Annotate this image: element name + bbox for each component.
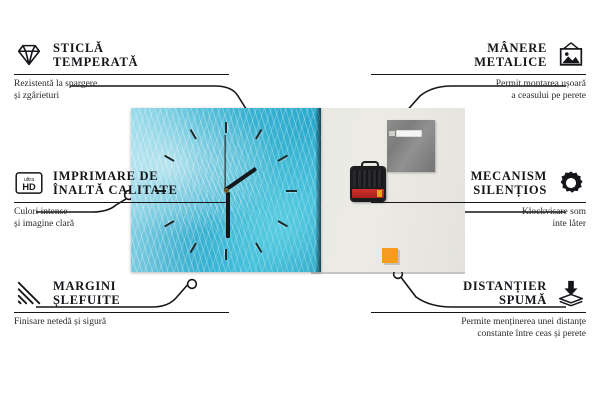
callout-title: STICLĂ TEMPERATĂ bbox=[53, 41, 138, 69]
callout-rule bbox=[371, 312, 586, 313]
callout-rule bbox=[14, 202, 229, 203]
callout-mecanism-silentios: MECANISM SILENȚIOS Klockvisare som inte … bbox=[371, 168, 586, 230]
callout-title: IMPRIMARE DE ÎNALTĂ CALITATE bbox=[53, 169, 178, 197]
hanger-keyhole-slot bbox=[396, 130, 422, 137]
polished-edge-icon bbox=[14, 278, 44, 308]
infographic-stage: STICLĂ TEMPERATĂ Rezistentă la spargere … bbox=[0, 0, 600, 400]
wall-hanger-icon bbox=[556, 40, 586, 70]
callout-desc: Klockvisare som inte låter bbox=[371, 207, 586, 230]
gear-icon bbox=[556, 168, 586, 198]
callout-rule bbox=[371, 202, 586, 203]
callout-title: MÂNERE METALICE bbox=[474, 41, 547, 69]
foam-spacer bbox=[382, 248, 398, 263]
callout-desc: Permite menținerea unei distanțe constan… bbox=[371, 317, 586, 340]
callout-sticla-temperata: STICLĂ TEMPERATĂ Rezistentă la spargere … bbox=[14, 40, 229, 102]
callout-rule bbox=[14, 74, 229, 75]
callout-desc: Culori intense și imagine clară bbox=[14, 207, 229, 230]
callout-imprimare-calitate: ultra HD IMPRIMARE DE ÎNALTĂ CALITATE Cu… bbox=[14, 168, 229, 230]
callout-rule bbox=[14, 312, 229, 313]
ultra-hd-icon: ultra HD bbox=[14, 168, 44, 198]
callout-title: MECANISM SILENȚIOS bbox=[471, 169, 547, 197]
metal-hanger-plate bbox=[387, 120, 435, 172]
callout-desc: Rezistentă la spargere și zgârieturi bbox=[14, 79, 229, 102]
callout-desc: Permit montarea ușoară a ceasului pe per… bbox=[371, 79, 586, 102]
callout-margini-slefuite: MARGINI ȘLEFUITE Finisare netedă și sigu… bbox=[14, 278, 229, 329]
callout-rule bbox=[371, 74, 586, 75]
svg-text:HD: HD bbox=[22, 182, 36, 192]
callout-title: MARGINI ȘLEFUITE bbox=[53, 279, 120, 307]
glass-right-edge bbox=[316, 108, 321, 272]
diamond-icon bbox=[14, 40, 44, 70]
callout-title: DISTANȚIER SPUMĂ bbox=[463, 279, 547, 307]
callout-distantier-spuma: DISTANȚIER SPUMĂ Permite menținerea unei… bbox=[371, 278, 586, 340]
foam-spacer-icon bbox=[556, 278, 586, 308]
callout-desc: Finisare netedă și sigură bbox=[14, 317, 229, 329]
callout-manere-metalice: MÂNERE METALICE Permit montarea ușoară a… bbox=[371, 40, 586, 102]
